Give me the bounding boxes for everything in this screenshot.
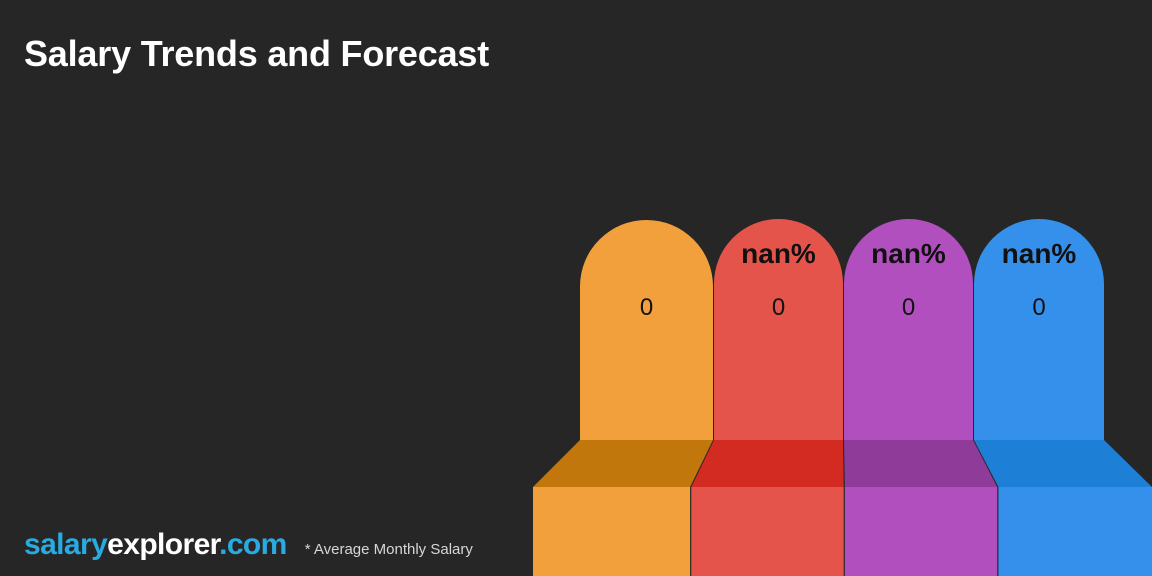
bar-4-plinth-top: [974, 440, 1152, 487]
bar-3-plinth-top: [844, 440, 997, 487]
site-logo[interactable]: salaryexplorer.com: [24, 528, 287, 562]
logo-part-com: .com: [219, 528, 287, 561]
bar-1[interactable]: [533, 220, 713, 576]
logo-part-salary: salary: [24, 528, 107, 561]
bar-chart: [0, 0, 1152, 576]
bar-4-plinth-front: [998, 487, 1152, 576]
bar-2-plinth-top: [691, 440, 843, 487]
bar-3-plinth-front: [845, 487, 997, 576]
bar-2[interactable]: [691, 219, 843, 576]
footer: salaryexplorer.com * Average Monthly Sal…: [24, 528, 473, 562]
bar-1-plinth-top: [533, 440, 713, 487]
chart-canvas: Salary Trends and Forecast 0nan%0nan%0na…: [0, 0, 1152, 576]
bar-2-plinth-front: [691, 487, 843, 576]
bar-4-change-label: nan%: [939, 240, 1139, 268]
footnote: * Average Monthly Salary: [305, 541, 473, 558]
bar-1-plinth-front: [533, 487, 690, 576]
bar-4-value-label: 0: [939, 296, 1139, 320]
bar-4[interactable]: [974, 219, 1152, 576]
logo-part-explorer: explorer: [107, 528, 219, 561]
